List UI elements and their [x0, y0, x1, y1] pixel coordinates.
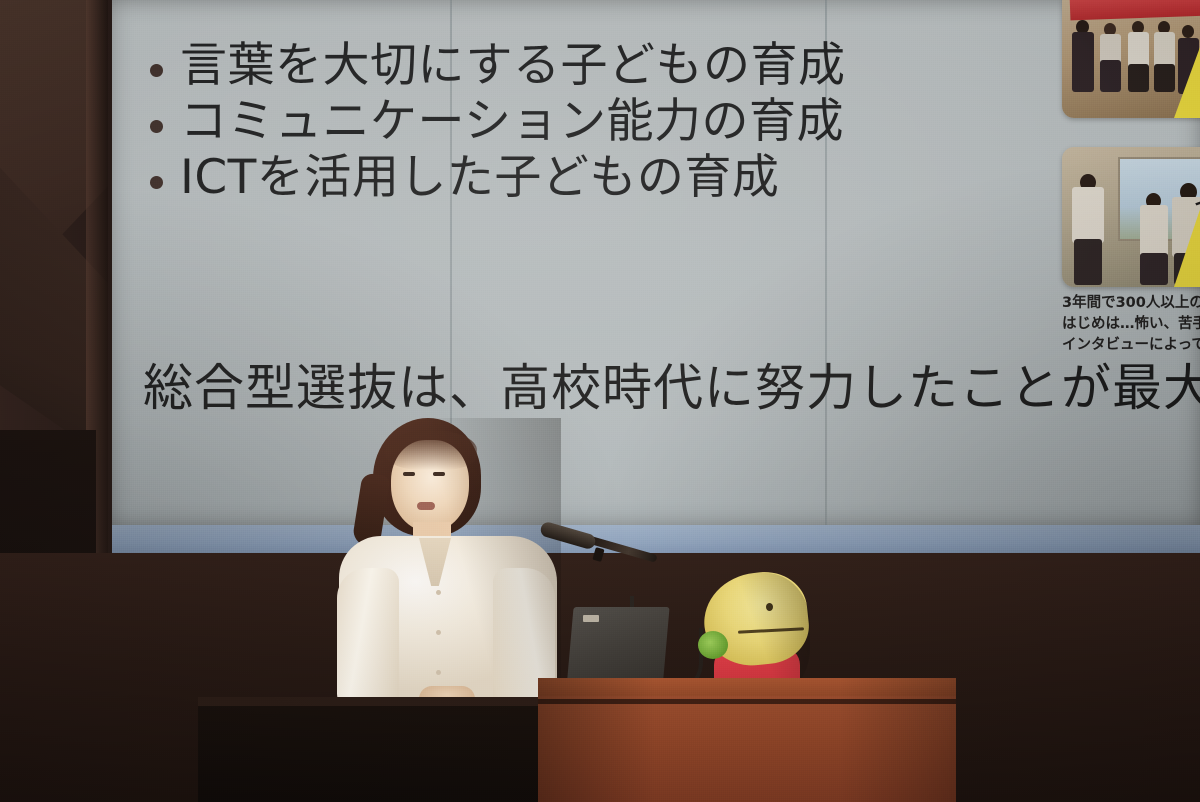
slide-photo-card-radio: ラジオ番組 全国大会3位	[1062, 0, 1200, 118]
blouse-button	[436, 590, 441, 595]
card-photo-radio	[1062, 0, 1200, 118]
speaker-mouth	[417, 502, 435, 510]
stage-table-top	[198, 697, 550, 706]
stage-table	[198, 697, 550, 802]
bullet-dot-icon	[150, 176, 163, 189]
bullet-dot-icon	[150, 120, 163, 133]
figure-pants	[1128, 64, 1149, 92]
figure-pants	[1074, 239, 1102, 285]
card-label-interview: インタビュー の様子	[1182, 147, 1200, 287]
figure-pants	[1154, 64, 1175, 92]
figure-body	[1140, 205, 1168, 257]
speaker-fringe	[385, 430, 477, 470]
bullet-text: ICTを活用した子どもの育成	[180, 150, 779, 206]
speaker-eye	[433, 472, 445, 476]
slide-photo-card-interview: インタビュー の様子	[1062, 147, 1200, 287]
figure-body	[1072, 187, 1104, 243]
speaker-eye	[403, 472, 415, 476]
bullet-text: 言葉を大切にする子どもの育成	[180, 38, 845, 94]
speaker-arm-left	[337, 568, 399, 714]
speaker-person	[335, 418, 561, 718]
caption-line: インタビューによって友達も増えた	[1062, 335, 1200, 356]
caption-line: はじめは…怖い、苦手	[1062, 314, 1200, 335]
figure-body	[1072, 32, 1094, 92]
card-label-radio: ラジオ番組 全国大会3位	[1182, 0, 1200, 118]
photo-scene: 言葉を大切にする子どもの育成 コミュニケーション能力の育成 ICTを活用した子ど…	[0, 0, 1200, 802]
bullet-text: コミュニケーション能力の育成	[180, 94, 844, 150]
slide-content: 言葉を大切にする子どもの育成 コミュニケーション能力の育成 ICTを活用した子ど…	[105, 0, 1200, 531]
slide-caption: 3年間で300人以上の方にインタビュー はじめは…怖い、苦手 インタビューによっ…	[1062, 293, 1200, 356]
card-label-line: インタビュー	[1194, 192, 1200, 217]
blouse-button	[436, 670, 441, 675]
podium	[538, 696, 956, 802]
bullet-item: 言葉を大切にする子どもの育成	[150, 38, 940, 94]
mascot-hand	[698, 631, 728, 659]
mascot-eye	[766, 603, 773, 611]
blouse-button	[436, 630, 441, 635]
laptop	[566, 607, 669, 689]
slide-lead-sentence: 総合型選抜は、高校時代に努力したことが最大限に	[143, 361, 1200, 416]
slide-bullet-list: 言葉を大切にする子どもの育成 コミュニケーション能力の育成 ICTを活用した子ど…	[150, 38, 940, 206]
figure-skirt	[1140, 253, 1168, 285]
podium-groove	[538, 699, 956, 704]
bullet-item: コミュニケーション能力の育成	[150, 94, 940, 150]
bullet-dot-icon	[150, 64, 163, 77]
card-photo-interview	[1062, 147, 1200, 287]
contest-banner	[1070, 0, 1200, 20]
bullet-item: ICTを活用した子どもの育成	[150, 150, 940, 206]
caption-line: 3年間で300人以上の方にインタビュー	[1062, 293, 1200, 314]
laptop-badge	[583, 615, 599, 622]
figure-skirt	[1100, 60, 1121, 92]
